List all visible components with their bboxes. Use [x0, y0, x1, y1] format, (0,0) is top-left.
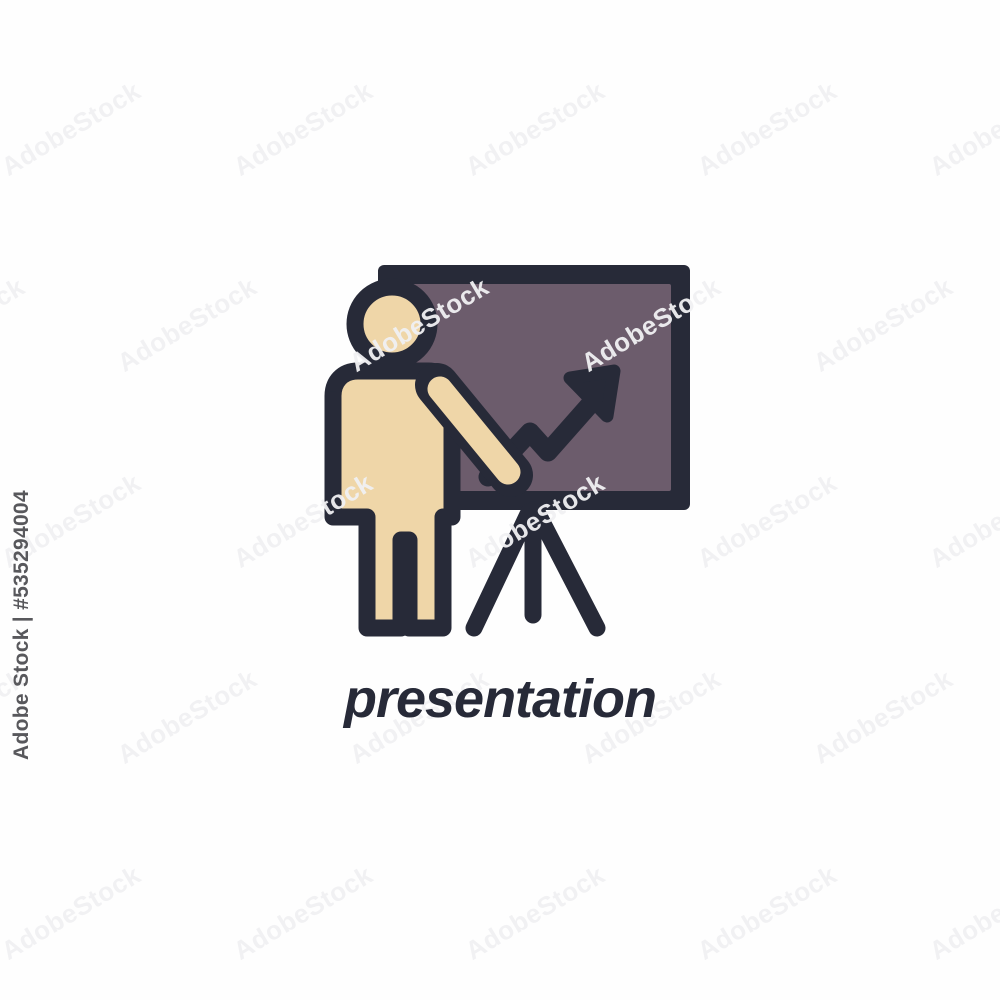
stock-credit-label: Adobe Stock | #535294004	[10, 490, 34, 760]
stock-photo-preview: presentation AdobeStockAdobeStockAdobeSt…	[0, 0, 1000, 1000]
icon-caption: presentation	[0, 668, 1000, 730]
tripod-left-leg	[474, 512, 529, 628]
presenter-head	[355, 287, 429, 361]
presentation-icon-artwork	[0, 0, 1000, 1000]
tripod-right-leg	[537, 512, 597, 628]
tripod-stand	[474, 510, 597, 628]
